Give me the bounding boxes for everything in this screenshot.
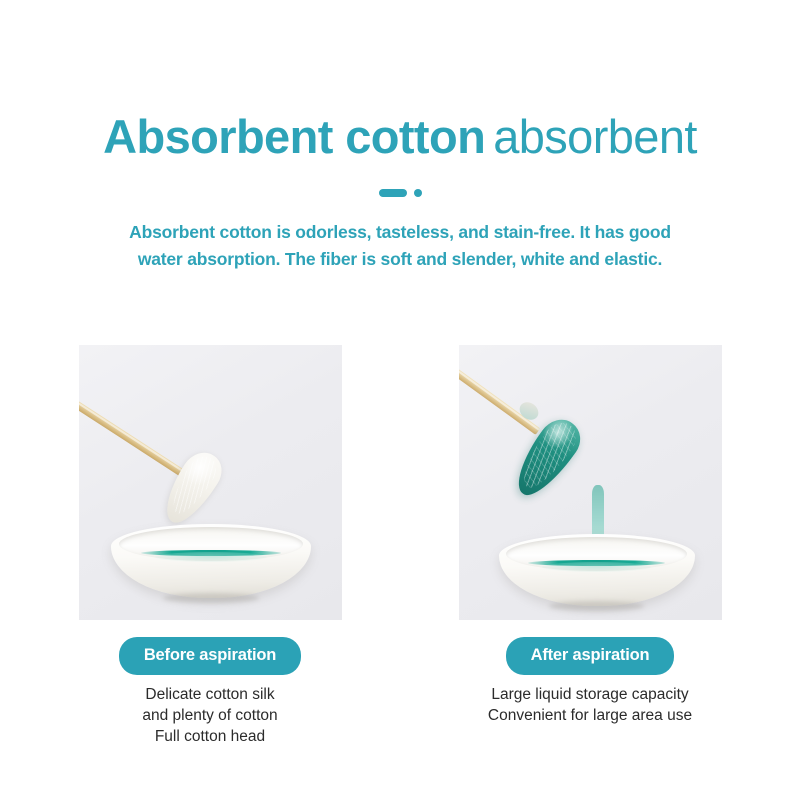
dish-shadow <box>163 593 259 603</box>
wooden-stick <box>459 364 540 435</box>
caption-before: Delicate cotton silk and plenty of cotto… <box>79 684 342 747</box>
card-before-aspiration: Before aspiration Delicate cotton silk a… <box>79 345 342 747</box>
divider-dot <box>414 189 422 197</box>
stick-highlight <box>79 394 192 477</box>
wooden-stick <box>79 394 193 482</box>
page-subtitle-line-1: Absorbent cotton is odorless, tasteless,… <box>0 219 800 246</box>
caption-line: Full cotton head <box>79 726 342 747</box>
dash-dot-divider-icon <box>0 188 800 197</box>
dish-liquid-pool <box>542 562 652 572</box>
product-infographic-page: Absorbent cottonabsorbent Absorbent cott… <box>0 0 800 800</box>
caption-line: Convenient for large area use <box>459 705 722 726</box>
ceramic-dish <box>111 524 311 598</box>
dish-shadow <box>549 601 643 611</box>
saturated-cotton-tip <box>505 411 588 504</box>
card-footer-after: After aspiration Large liquid storage ca… <box>459 637 722 726</box>
header-section: Absorbent cottonabsorbent Absorbent cott… <box>0 108 800 273</box>
comparison-cards: Before aspiration Delicate cotton silk a… <box>0 345 800 747</box>
status-badge-after: After aspiration <box>506 637 675 675</box>
cotton-swab-saturated-dripping-photo <box>459 345 722 620</box>
page-subtitle: Absorbent cotton is odorless, tasteless,… <box>0 219 800 273</box>
stick-highlight <box>459 365 540 431</box>
page-subtitle-line-2: water absorption. The fiber is soft and … <box>0 246 800 273</box>
dish-liquid-pool <box>155 552 267 562</box>
cotton-swab-dry-over-dish-photo <box>79 345 342 620</box>
caption-line: Delicate cotton silk <box>79 684 342 705</box>
page-title-light: absorbent <box>493 110 697 163</box>
status-badge-before: Before aspiration <box>119 637 301 675</box>
page-title-bold: Absorbent cotton <box>103 110 485 163</box>
divider-dash <box>379 189 407 197</box>
card-footer-before: Before aspiration Delicate cotton silk a… <box>79 637 342 747</box>
caption-after: Large liquid storage capacity Convenient… <box>459 684 722 726</box>
ceramic-dish <box>499 534 695 606</box>
page-title: Absorbent cottonabsorbent <box>0 108 800 166</box>
caption-line: Large liquid storage capacity <box>459 684 722 705</box>
caption-line: and plenty of cotton <box>79 705 342 726</box>
card-after-aspiration: After aspiration Large liquid storage ca… <box>459 345 722 747</box>
